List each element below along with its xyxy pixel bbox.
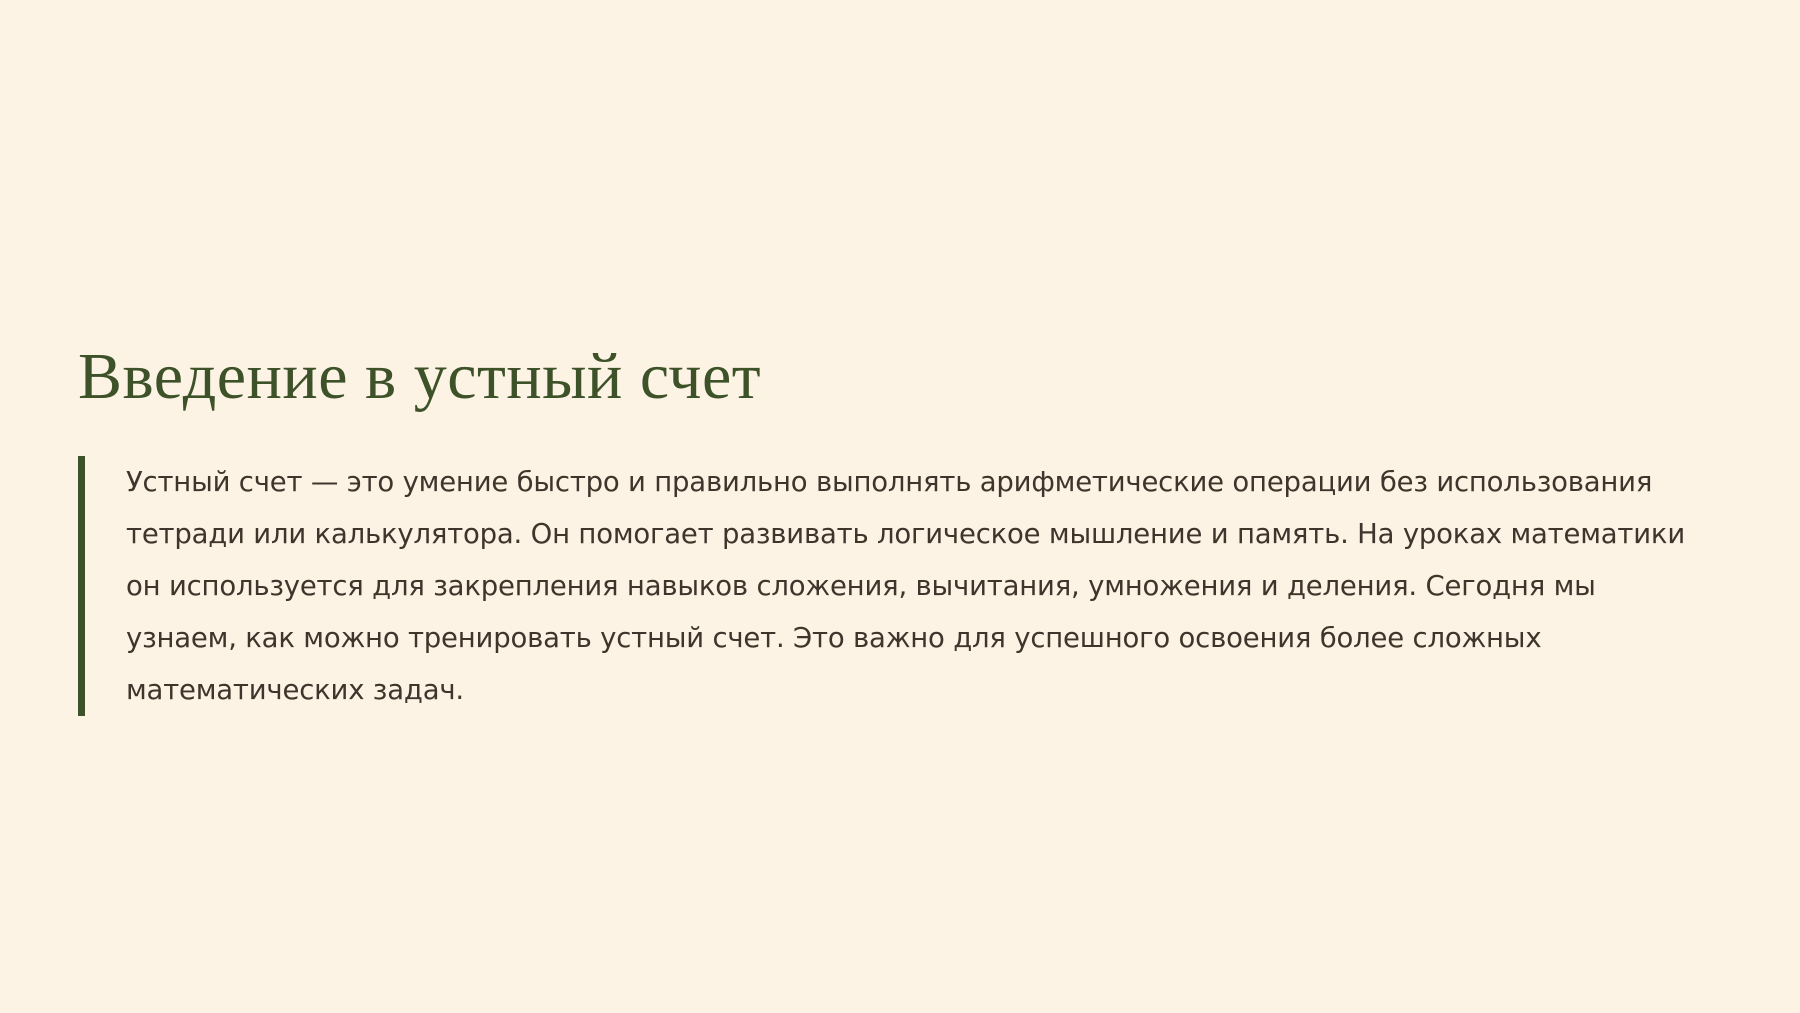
body-paragraph: Устный счет — это умение быстро и правил… [126, 456, 1686, 716]
page-title: Введение в устный счет [78, 340, 1718, 414]
slide-content: Введение в устный счет Устный счет — это… [78, 340, 1718, 716]
slide-canvas: Введение в устный счет Устный счет — это… [0, 0, 1800, 1013]
accent-bar [78, 456, 85, 716]
body-block: Устный счет — это умение быстро и правил… [78, 456, 1718, 716]
